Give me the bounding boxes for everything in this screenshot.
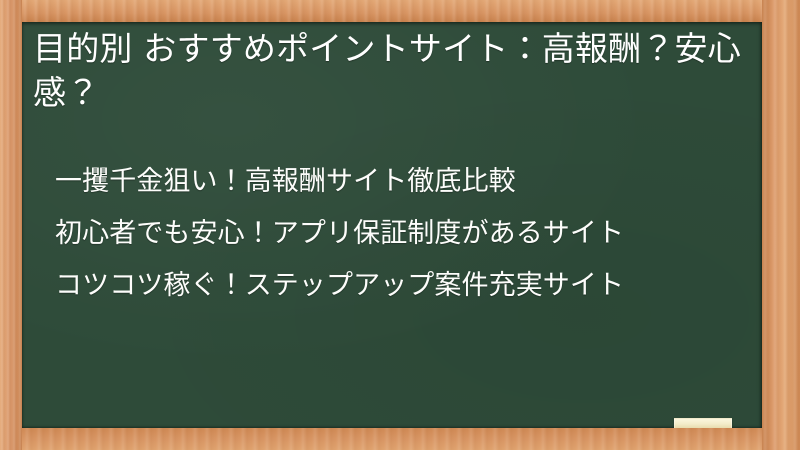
frame-rail-right [762,0,800,450]
list-item: コツコツ稼ぐ！ステップアップ案件充実サイト [55,260,745,312]
frame-rail-top [0,0,800,22]
list-item: 初心者でも安心！アプリ保証制度があるサイト [55,208,745,260]
list-item: 一攫千金狙い！高報酬サイト徹底比較 [55,156,745,208]
wooden-frame: 目的別 おすすめポイントサイト：高報酬？安心感？ 一攫千金狙い！高報酬サイト徹底… [0,0,800,450]
chalk-eraser [674,418,732,428]
page-title: 目的別 おすすめポイントサイト：高報酬？安心感？ [33,27,749,115]
topic-list: 一攫千金狙い！高報酬サイト徹底比較 初心者でも安心！アプリ保証制度があるサイト … [55,156,745,312]
chalkboard-surface: 目的別 おすすめポイントサイト：高報酬？安心感？ 一攫千金狙い！高報酬サイト徹底… [22,22,762,428]
frame-rail-left [0,0,22,450]
frame-rail-bottom [0,428,800,450]
